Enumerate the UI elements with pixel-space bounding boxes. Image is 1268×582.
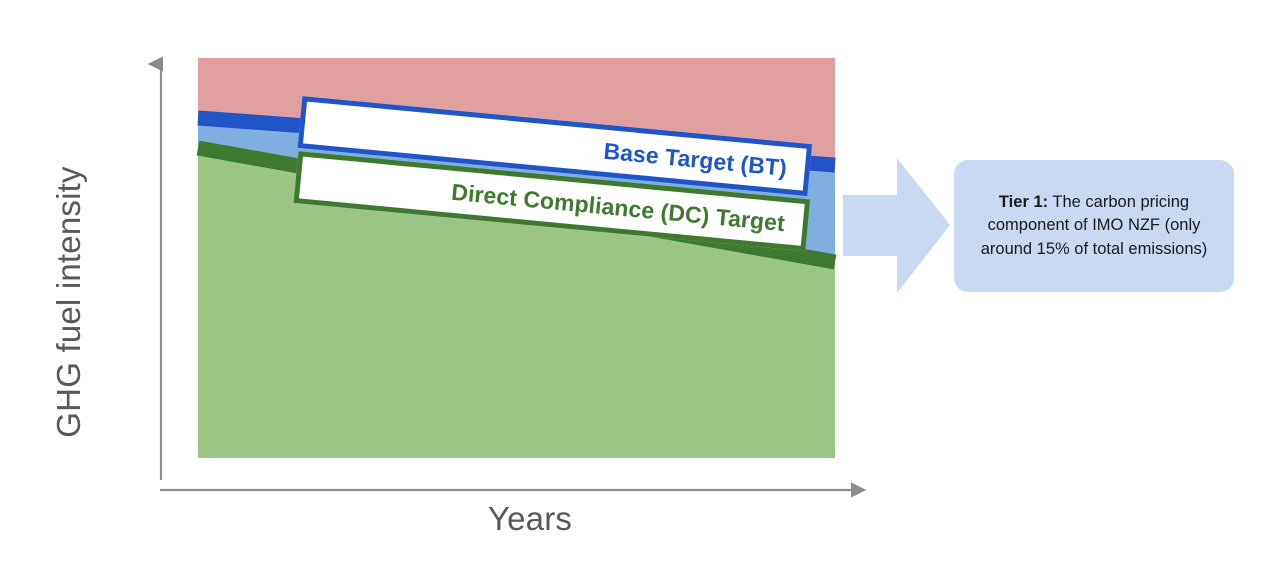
x-axis-label: Years (380, 500, 680, 538)
y-axis-label: GHG fuel intensity (50, 152, 88, 452)
diagram-canvas: GHG fuel intensity Years Base Target (BT… (0, 0, 1268, 582)
block-right-arrow-icon (843, 158, 950, 293)
tier1-callout-box: Tier 1: The carbon pricing component of … (954, 160, 1234, 292)
tier1-lead-in: Tier 1: (999, 193, 1048, 211)
tier1-callout-text: Tier 1: The carbon pricing component of … (968, 191, 1220, 261)
base-target-label-text: Base Target (BT) (602, 137, 788, 181)
